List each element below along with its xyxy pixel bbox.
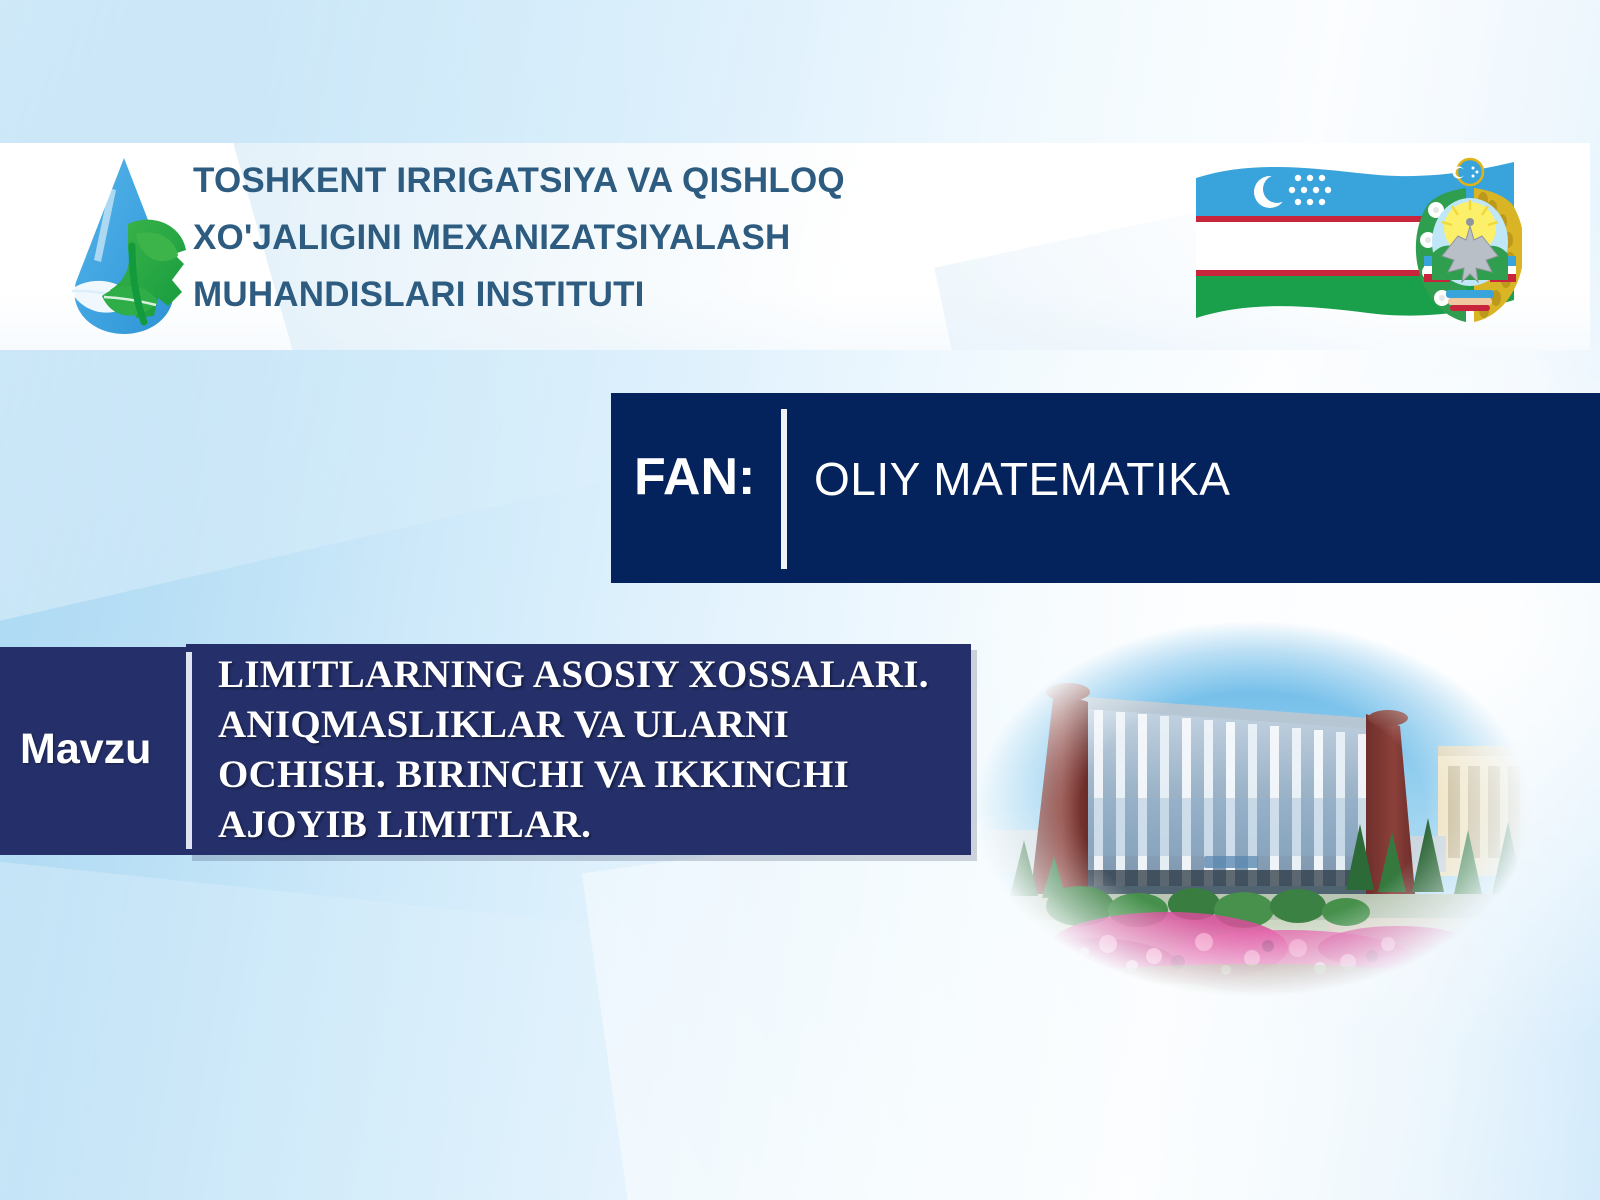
uzbekistan-flag-with-emblem-icon bbox=[1192, 150, 1522, 345]
institute-name: TOSHKENT IRRIGATSIYA VA QISHLOQ XO'JALIG… bbox=[193, 152, 1073, 323]
institute-building-photo-icon bbox=[968, 618, 1538, 1000]
topic-title: LIMITLARNING ASOSIY XOSSALARI. ANIQMASLI… bbox=[218, 650, 963, 850]
topic-title-box: LIMITLARNING ASOSIY XOSSALARI. ANIQMASLI… bbox=[186, 644, 971, 855]
subject-divider bbox=[781, 409, 787, 569]
subject-label: FAN: bbox=[634, 448, 755, 506]
background-swoosh-lower-left bbox=[0, 844, 924, 1200]
subject-banner: FAN: OLIY MATEMATIKA bbox=[611, 393, 1600, 583]
presentation-slide: TOSHKENT IRRIGATSIYA VA QISHLOQ XO'JALIG… bbox=[0, 0, 1600, 1200]
topic-label: Mavzu bbox=[20, 724, 190, 774]
topic-divider bbox=[186, 652, 192, 849]
topic-label-box: Mavzu bbox=[0, 647, 212, 855]
subject-value: OLIY MATEMATIKA bbox=[814, 451, 1230, 507]
water-droplet-leaf-gear-logo-icon bbox=[62, 150, 192, 340]
